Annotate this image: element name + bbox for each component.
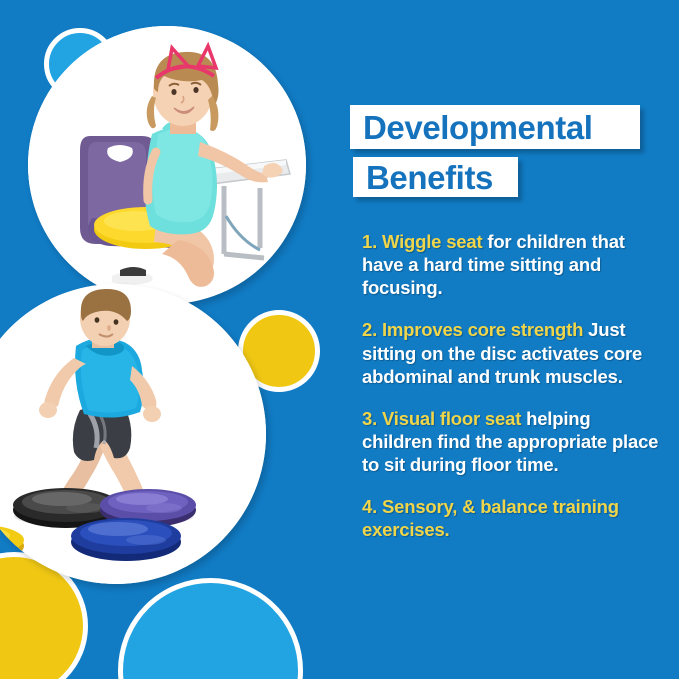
photo-boy-on-balance-discs — [0, 284, 266, 584]
page-title-line-1: Developmental — [350, 105, 640, 149]
benefit-item-3: 3. Visual floor seat helping children fi… — [362, 407, 662, 476]
benefit-4-highlight: Sensory, & balance training exercises. — [362, 496, 619, 540]
benefit-2-number: 2. — [362, 319, 377, 340]
benefit-item-1: 1. Wiggle seat for children that have a … — [362, 230, 662, 299]
photo-bottom-illustration — [0, 284, 266, 584]
text-column: Developmental Benefits 1. Wiggle seat fo… — [350, 0, 679, 679]
photo-top-illustration — [28, 26, 306, 304]
page-title-line-2: Benefits — [353, 157, 518, 197]
benefit-2-highlight: Improves core strength — [382, 319, 583, 340]
benefit-3-highlight: Visual floor seat — [382, 408, 521, 429]
benefit-4-number: 4. — [362, 496, 377, 517]
photo-girl-on-wiggle-seat — [28, 26, 306, 304]
product-infographic: Developmental Benefits 1. Wiggle seat fo… — [0, 0, 679, 679]
benefit-1-highlight: Wiggle seat — [382, 231, 482, 252]
benefit-item-2: 2. Improves core strength Just sitting o… — [362, 318, 662, 387]
benefits-list: 1. Wiggle seat for children that have a … — [362, 230, 662, 560]
benefit-3-number: 3. — [362, 408, 377, 429]
benefit-item-4: 4. Sensory, & balance training exercises… — [362, 495, 662, 541]
benefit-1-number: 1. — [362, 231, 377, 252]
decorative-circle-cyan-bottom — [118, 578, 303, 679]
